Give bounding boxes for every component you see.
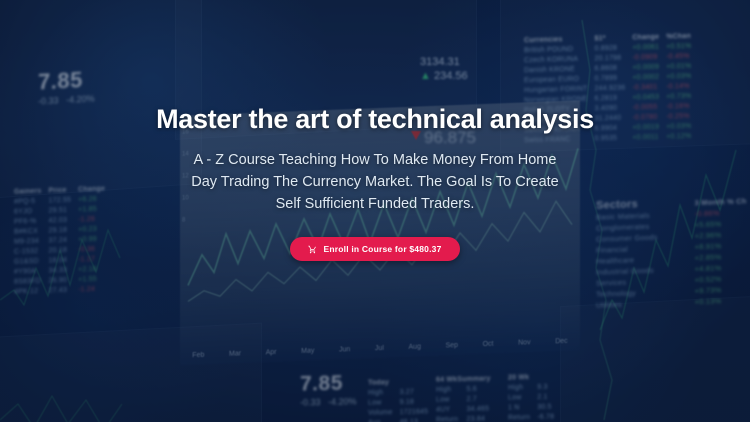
hero-banner: 7.85 -0.33 -4.20% Gainers Price Change #… [0,0,750,446]
hero-subtitle: A - Z Course Teaching How To Make Money … [185,149,565,215]
cta-container: Enroll in Course for $480.37 [90,237,660,261]
enroll-button[interactable]: Enroll in Course for $480.37 [290,237,459,261]
enroll-button-label: Enroll in Course for $480.37 [323,244,441,254]
bottom-white-strip [0,422,750,446]
page-title: Master the art of technical analysis [90,104,660,135]
shopping-cart-icon [308,245,317,254]
hero-content: Master the art of technical analysis A -… [0,104,750,261]
